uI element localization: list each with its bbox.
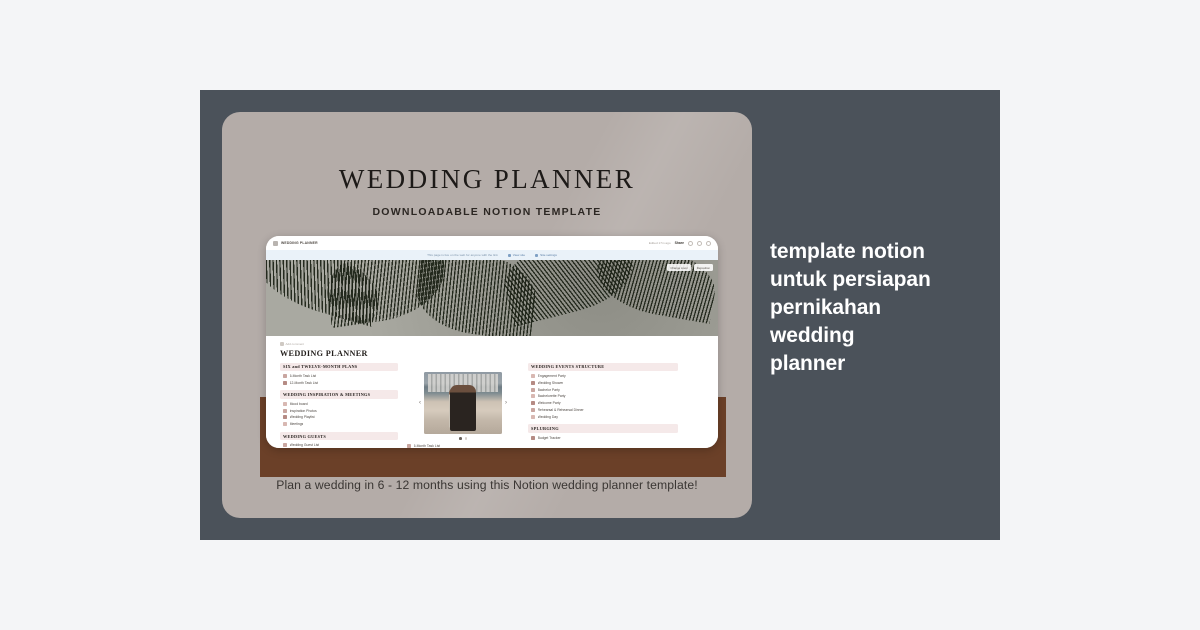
breadcrumb[interactable]: WEDDING PLANNER: [273, 241, 318, 246]
cover-buttons: Change cover Reposition: [667, 264, 713, 271]
list-item[interactable]: Wedding Shower: [528, 380, 678, 386]
add-comment-row[interactable]: Add comment: [280, 342, 704, 346]
list-item[interactable]: Welcome Party: [528, 400, 678, 406]
list-item[interactable]: Wedding Playlist: [280, 414, 398, 420]
engagement-icon: [531, 374, 535, 378]
list-item[interactable]: Wedding Day: [528, 414, 678, 420]
list-item-label: 6-Month Task List: [414, 444, 441, 448]
list-item-label: Bachelorette Party: [538, 394, 566, 398]
change-cover-button[interactable]: Change cover: [667, 264, 690, 271]
browser-topbar: WEDDING PLANNER Edited 17m ago Share: [266, 236, 718, 250]
breadcrumb-label: WEDDING PLANNER: [281, 241, 318, 245]
carousel-dot[interactable]: [465, 437, 468, 440]
list-item-label: Rehearsal & Rehearsal Dinner: [538, 408, 584, 412]
list-item[interactable]: Meetings: [280, 421, 398, 427]
rehearsal-icon: [531, 408, 535, 412]
list-item-label: 6-Month Task List: [290, 374, 317, 378]
list-item[interactable]: Wedding Guest List: [280, 442, 398, 448]
list-item[interactable]: 12-Month Task List: [280, 380, 398, 386]
section-heading-events: WEDDING EVENTS STRUCTURE: [528, 363, 678, 371]
list-item[interactable]: Bachelor Party: [528, 386, 678, 392]
product-card[interactable]: WEDDING PLANNER DOWNLOADABLE NOTION TEMP…: [222, 112, 752, 518]
carousel-prev-icon[interactable]: ‹: [416, 400, 424, 406]
list-item-label: Meetings: [290, 422, 304, 426]
section-heading-splurging: SPLURGING: [528, 424, 678, 432]
list-item[interactable]: Budget Tracker: [528, 435, 678, 441]
section-heading-six-twelve: SIX and TWELVE-MONTH PLANS: [280, 363, 398, 371]
publish-banner: This page is live on the web for anyone …: [266, 250, 718, 260]
headline-line-4: wedding: [770, 322, 985, 350]
person-figure: [450, 385, 476, 431]
list-item[interactable]: Bachelorette Party: [528, 393, 678, 399]
bachelorette-icon: [531, 394, 535, 398]
globe-icon: [508, 254, 511, 257]
task-list-icon: [283, 374, 287, 378]
headline-line-1: template notion: [770, 238, 985, 266]
notion-page-body: Add comment WEDDING PLANNER SIX and TWEL…: [266, 336, 718, 448]
list-item[interactable]: 6-Month Task List: [404, 443, 522, 449]
clock-icon[interactable]: [697, 241, 702, 246]
guest-list-icon: [283, 443, 287, 447]
list-item[interactable]: Inspiration Photos: [280, 408, 398, 414]
welcome-party-icon: [531, 401, 535, 405]
list-item-label: Wedding Playlist: [290, 415, 315, 419]
browser-mockup: WEDDING PLANNER Edited 17m ago Share Thi…: [266, 236, 718, 448]
list-item-label: Wedding Guest List: [290, 443, 320, 447]
budget-tracker-icon: [531, 436, 535, 440]
topbar-actions: Edited 17m ago Share: [649, 241, 711, 246]
list-item-label: Wedding Day: [538, 415, 558, 419]
section-heading-inspiration: WEDDING INSPIRATION & MEETINGS: [280, 390, 398, 398]
page-root: WEDDING PLANNER DOWNLOADABLE NOTION TEMP…: [0, 0, 1200, 630]
list-item-label: Budget Tracker: [538, 436, 561, 440]
comment-icon[interactable]: [688, 241, 693, 246]
add-comment-label: Add comment: [286, 342, 305, 346]
headline-line-2: untuk persiapan: [770, 266, 985, 294]
list-item-label: Inspiration Photos: [290, 409, 317, 413]
card-title: WEDDING PLANNER: [222, 164, 752, 195]
carousel-next-icon[interactable]: ›: [502, 400, 510, 406]
cover-photo: Change cover Reposition: [266, 260, 718, 336]
list-item-label: Wedding Shower: [538, 381, 564, 385]
task-list-icon: [283, 381, 287, 385]
card-caption: Plan a wedding in 6 - 12 months using th…: [222, 478, 752, 492]
list-item[interactable]: Engagement Party: [528, 373, 678, 379]
notion-page-title: WEDDING PLANNER: [280, 349, 704, 358]
card-subtitle: DOWNLOADABLE NOTION TEMPLATE: [222, 206, 752, 218]
carousel-dots: [404, 437, 522, 440]
photos-icon: [283, 409, 287, 413]
shower-icon: [531, 381, 535, 385]
column-left: SIX and TWELVE-MONTH PLANS 6-Month Task …: [280, 363, 398, 449]
list-item-label: Welcome Party: [538, 401, 561, 405]
headline-line-5: planner: [770, 350, 985, 378]
bachelor-icon: [531, 388, 535, 392]
content-columns: SIX and TWELVE-MONTH PLANS 6-Month Task …: [280, 363, 704, 449]
list-item[interactable]: 6-Month Task List: [280, 373, 398, 379]
site-settings-link[interactable]: Site settings: [535, 253, 557, 257]
carousel-photo: [424, 372, 502, 434]
list-item-label: Bachelor Party: [538, 388, 560, 392]
share-button[interactable]: Share: [675, 241, 684, 245]
carousel-dot[interactable]: [459, 437, 462, 440]
column-middle: ‹ ›: [404, 363, 522, 449]
meetings-icon: [283, 422, 287, 426]
site-settings-label: Site settings: [540, 253, 557, 257]
headline-line-3: pernikahan: [770, 294, 985, 322]
list-item-label: Engagement Party: [538, 374, 566, 378]
reposition-button[interactable]: Reposition: [694, 264, 713, 271]
list-item[interactable]: Mood board: [280, 401, 398, 407]
wedding-day-icon: [531, 415, 535, 419]
image-carousel[interactable]: ‹ ›: [404, 367, 522, 439]
view-site-label: View site: [513, 253, 525, 257]
list-item-label: 12-Month Task List: [290, 381, 318, 385]
mood-board-icon: [283, 402, 287, 406]
list-item[interactable]: Rehearsal & Rehearsal Dinner: [528, 407, 678, 413]
view-site-link[interactable]: View site: [508, 253, 525, 257]
edited-timestamp: Edited 17m ago: [649, 241, 671, 245]
section-heading-guests: WEDDING GUESTS: [280, 432, 398, 440]
comment-bubble-icon: [280, 342, 284, 346]
column-right: WEDDING EVENTS STRUCTURE Engagement Part…: [528, 363, 678, 449]
gear-icon: [535, 254, 538, 257]
headline: template notion untuk persiapan pernikah…: [770, 238, 985, 378]
publish-banner-text: This page is live on the web for anyone …: [427, 253, 498, 257]
task-list-icon: [407, 444, 411, 448]
page-icon: [273, 241, 278, 246]
more-icon[interactable]: [706, 241, 711, 246]
list-item-label: Mood board: [290, 402, 308, 406]
playlist-icon: [283, 415, 287, 419]
